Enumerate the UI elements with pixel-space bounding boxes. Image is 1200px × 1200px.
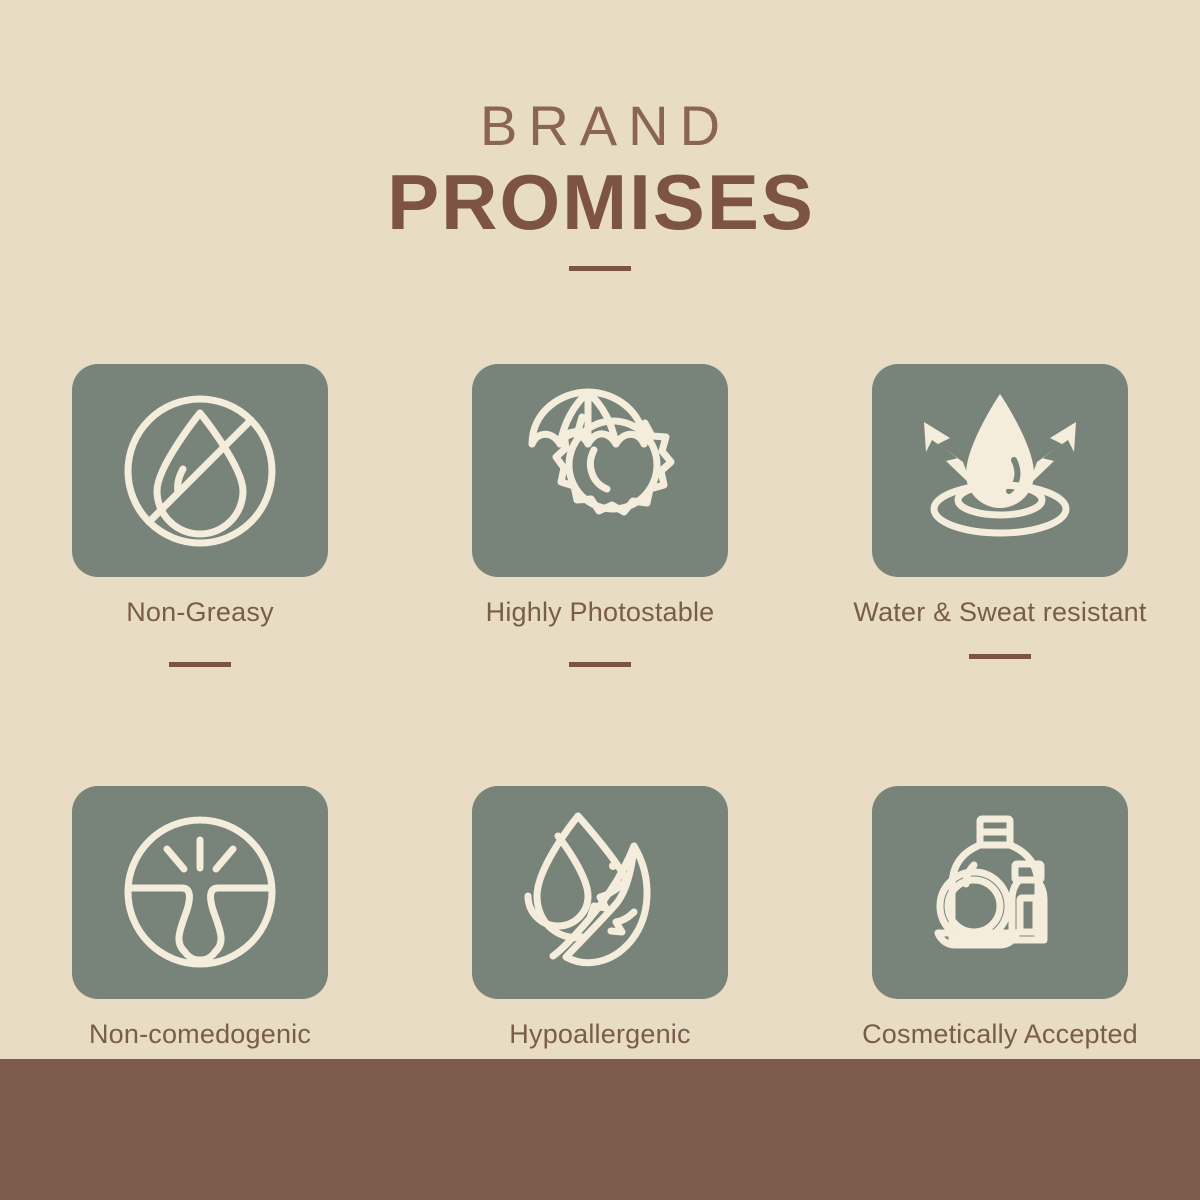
feather-droplet-icon: [512, 804, 688, 980]
cosmetic-bottles-icon: [914, 806, 1086, 978]
page-title-line2: PROMISES: [0, 162, 1200, 244]
promise-icon-tile: [72, 786, 328, 999]
promise-card-non-comedogenic[interactable]: Non-comedogenic: [10, 786, 390, 1089]
promise-label: Water & Sweat resistant: [853, 595, 1146, 630]
water-droplet-ripple-arrows-icon: [910, 388, 1090, 553]
promise-card-non-greasy[interactable]: Non-Greasy: [10, 364, 390, 667]
page-header: BRAND PROMISES: [0, 0, 1200, 271]
promise-icon-tile: [472, 364, 728, 577]
footer-band: [0, 1059, 1200, 1200]
promise-label: Non-Greasy: [126, 595, 274, 630]
no-oil-droplet-icon: [115, 386, 285, 556]
skin-pore-follicle-icon: [114, 806, 286, 978]
promise-icon-tile: [72, 364, 328, 577]
promise-card-highly-photostable[interactable]: Highly Photostable: [410, 364, 790, 667]
promise-card-water-sweat-resistant[interactable]: Water & Sweat resistant: [810, 364, 1190, 667]
promise-label: Cosmetically Accepted: [862, 1017, 1138, 1052]
promise-label: Hypoallergenic: [509, 1017, 690, 1052]
promise-icon-tile: [872, 786, 1128, 999]
promises-grid: Non-Greasy: [0, 364, 1200, 1088]
page-title-line1: BRAND: [0, 98, 1200, 154]
promise-icon-tile: [872, 364, 1128, 577]
promise-underline-dash: [969, 654, 1031, 659]
umbrella-over-sun-icon: [512, 383, 688, 559]
promise-label: Highly Photostable: [486, 595, 715, 630]
promise-icon-tile: [472, 786, 728, 999]
promise-underline-dash: [569, 662, 631, 667]
promise-label: Non-comedogenic: [89, 1017, 311, 1052]
promise-card-cosmetically-accepted[interactable]: Cosmetically Accepted: [810, 786, 1190, 1089]
promise-card-hypoallergenic[interactable]: Hypoallergenic: [410, 786, 790, 1089]
title-underline-dash: [569, 266, 631, 271]
promise-underline-dash: [169, 662, 231, 667]
